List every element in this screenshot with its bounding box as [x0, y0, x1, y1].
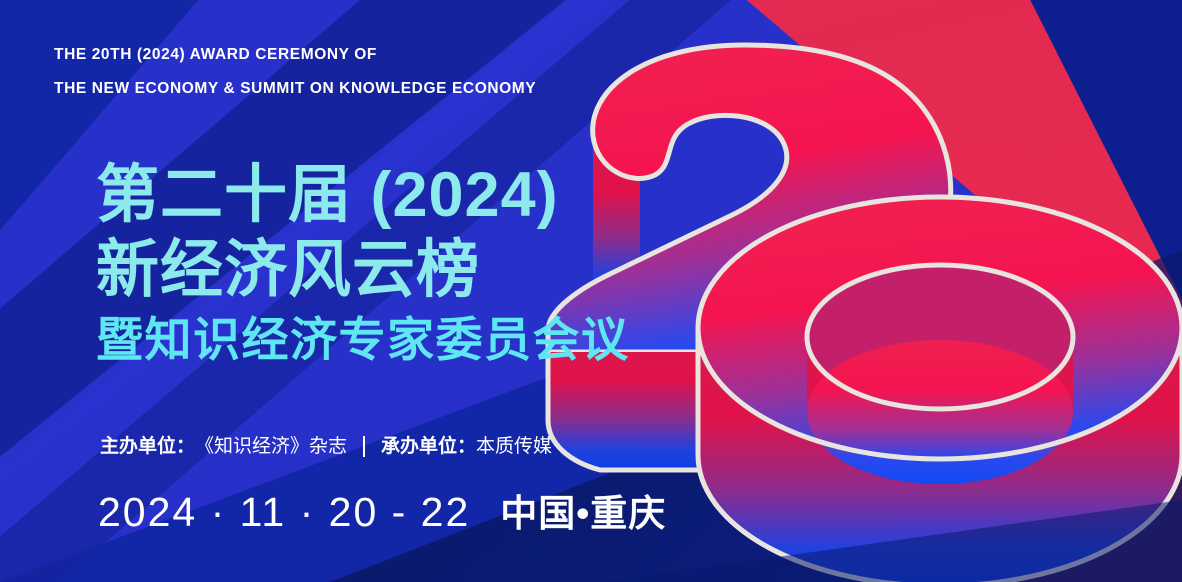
host-label: 主办单位： — [100, 437, 195, 456]
co-organizer-label: 承办单位： — [381, 437, 476, 456]
title-line-2: 新经济风云榜 — [96, 233, 559, 308]
date-location-line: 2024 · 11 · 20 - 22 中国•重庆 — [98, 483, 666, 537]
eyebrow-line-2: THE NEW ECONOMY & SUMMIT ON KNOWLEDGE EC… — [54, 81, 536, 97]
co-organizer-value: 本质传媒 — [476, 437, 552, 456]
poster-text-layer: THE 20TH (2024) AWARD CEREMONY OF THE NE… — [0, 0, 1182, 582]
eyebrow-line-1: THE 20TH (2024) AWARD CEREMONY OF — [54, 46, 377, 63]
event-poster: THE 20TH (2024) AWARD CEREMONY OF THE NE… — [0, 0, 1182, 582]
eyebrow-heading: THE 20TH (2024) AWARD CEREMONY OF THE NE… — [54, 47, 536, 96]
organizers-line: 主办单位： 《知识经济》杂志 承办单位： 本质传媒 — [100, 436, 552, 457]
organizer-divider — [363, 436, 365, 457]
event-location: 中国•重庆 — [500, 483, 666, 537]
event-date: 2024 · 11 · 20 - 22 — [98, 489, 470, 536]
page-subtitle: 暨知识经济专家委员会议 — [96, 316, 630, 363]
page-title: 第二十届 (2024) 新经济风云榜 — [96, 158, 559, 308]
title-line-1: 第二十届 (2024) — [96, 160, 559, 230]
host-value: 《知识经济》杂志 — [195, 437, 347, 456]
